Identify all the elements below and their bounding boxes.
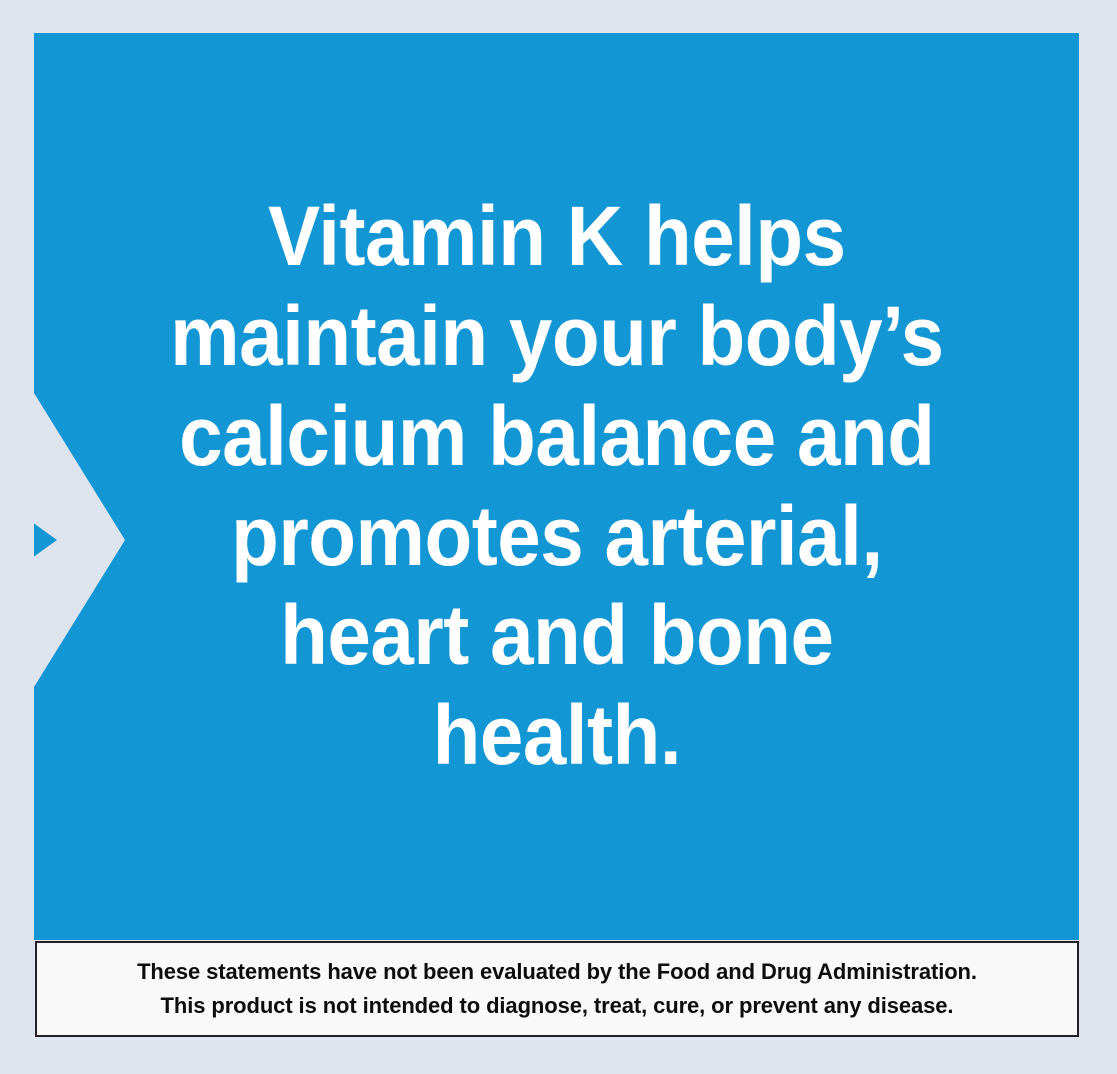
page-title: Vitamin K helps maintain your body’s cal…: [170, 187, 943, 787]
headline-container: Vitamin K helps maintain your body’s cal…: [34, 33, 1079, 940]
disclaimer-line-2: This product is not intended to diagnose…: [161, 989, 954, 1023]
fda-disclaimer-box: These statements have not been evaluated…: [35, 941, 1079, 1037]
disclaimer-line-1: These statements have not been evaluated…: [137, 955, 977, 989]
promotional-poster: Vitamin K helps maintain your body’s cal…: [0, 0, 1117, 1074]
